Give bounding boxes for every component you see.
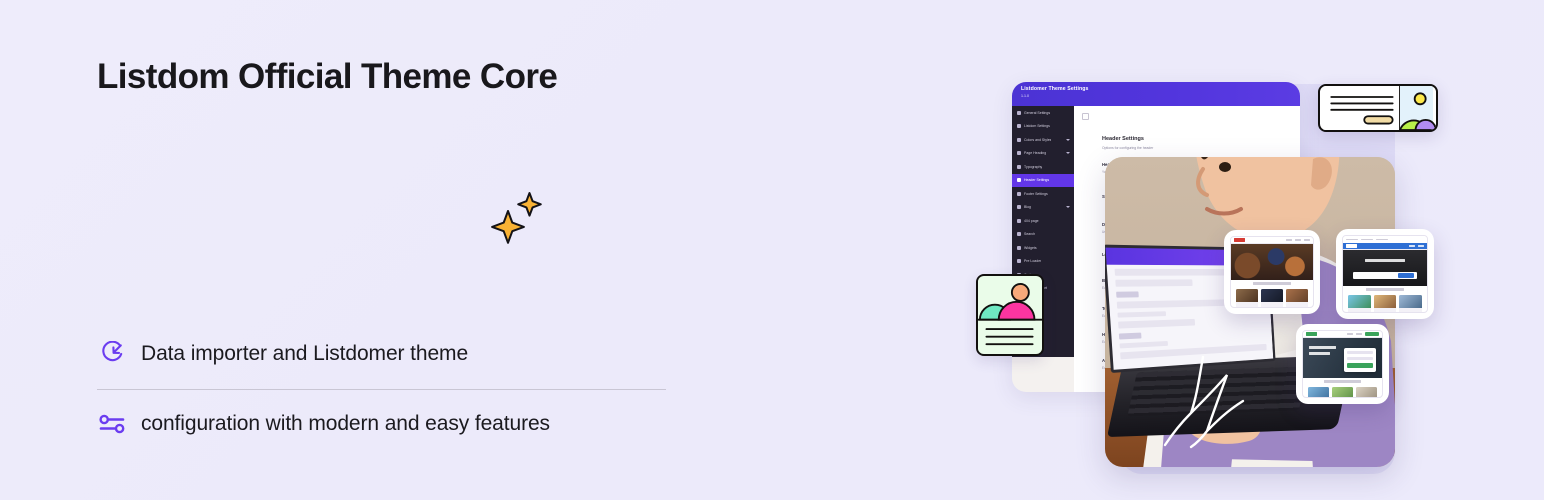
preview-search-popup xyxy=(1344,348,1376,372)
widgets-icon xyxy=(1017,246,1021,250)
feature-label: Data importer and Listdomer theme xyxy=(141,342,468,366)
hero-artwork: Listdomer Theme Settings 1.1.0 General S… xyxy=(960,24,1544,494)
theme-preview-food-directory[interactable] xyxy=(1224,230,1320,314)
main-headline: Listdomer Theme Core Plugin xyxy=(97,114,717,255)
sidebar-item-blog[interactable]: Blog xyxy=(1012,201,1074,215)
content-subheading: Options for configuring the header xyxy=(1102,146,1153,150)
preview-hero-image xyxy=(1231,244,1313,280)
site-logo xyxy=(1234,238,1245,241)
panel-topbar: Listdomer Theme Settings 1.1.0 xyxy=(1012,82,1300,106)
vertical-listing-card-illustration xyxy=(976,274,1044,356)
thumbnail-frame xyxy=(1230,236,1314,308)
header-icon xyxy=(1017,178,1021,182)
preview-card xyxy=(1261,289,1283,308)
sidebar-item-widgets[interactable]: Widgets xyxy=(1012,241,1074,255)
collapse-menu-icon[interactable] xyxy=(1082,113,1089,120)
headline-line-1: Listdomer Theme xyxy=(97,114,717,184)
feature-divider xyxy=(97,389,666,390)
sidebar-item-listdom-settings[interactable]: Listdom Settings xyxy=(1012,120,1074,134)
preview-card xyxy=(1399,295,1422,313)
eyebrow-title: Listdom Official Theme Core xyxy=(97,58,717,97)
preview-card xyxy=(1374,295,1397,313)
preview-card-row xyxy=(1303,383,1382,398)
panel-title: Listdomer Theme Settings xyxy=(1021,86,1089,92)
chevron-down-icon xyxy=(1066,139,1070,141)
search-icon xyxy=(1017,232,1021,236)
headline-block: Listdom Official Theme Core Listdomer Th… xyxy=(97,58,717,254)
content-heading: Header Settings xyxy=(1102,136,1144,142)
preview-card xyxy=(1236,289,1258,308)
import-circle-arrow-icon xyxy=(97,339,127,369)
laptop-screen-chip xyxy=(1116,291,1139,297)
preview-navbar xyxy=(1231,237,1313,244)
pencil-icon xyxy=(1017,205,1021,209)
preview-card xyxy=(1332,387,1353,398)
gear-icon xyxy=(1017,111,1021,115)
feature-list: Data importer and Listdomer theme config… xyxy=(97,330,667,448)
preview-navbar xyxy=(1343,243,1427,250)
sidebar-item-colors-and-styles[interactable]: Colors and Styles xyxy=(1012,133,1074,147)
sidebar-item-header-settings[interactable]: Header Settings xyxy=(1012,174,1074,188)
chevron-down-icon xyxy=(1066,152,1070,154)
sidebar-item-general-settings[interactable]: General Settings xyxy=(1012,106,1074,120)
typography-icon xyxy=(1017,165,1021,169)
sidebar-item-typography[interactable]: Typography xyxy=(1012,160,1074,174)
preview-card-row xyxy=(1231,285,1313,308)
sidebar-item-page-heading[interactable]: Page Heading xyxy=(1012,147,1074,161)
preview-search-button xyxy=(1398,273,1414,278)
preview-card xyxy=(1286,289,1308,308)
page-icon xyxy=(1017,151,1021,155)
nav-link xyxy=(1295,239,1301,241)
nav-link xyxy=(1286,239,1292,241)
horizontal-listing-card-illustration xyxy=(1318,84,1438,132)
theme-preview-real-estate[interactable] xyxy=(1296,324,1389,404)
headline-line-2-wrap: Core Plugin xyxy=(97,184,717,254)
laptop-screen-row xyxy=(1120,341,1169,348)
preview-card-row xyxy=(1343,291,1427,313)
panel-version: 1.1.0 xyxy=(1021,94,1029,98)
laptop-screen-row xyxy=(1115,279,1192,286)
preview-card xyxy=(1356,387,1377,398)
preview-browser-tabs xyxy=(1343,236,1427,243)
theme-preview-business-directory[interactable] xyxy=(1336,229,1434,319)
thumbnail-frame xyxy=(1342,235,1428,313)
preview-navbar xyxy=(1303,331,1382,338)
feature-item-data-importer: Data importer and Listdomer theme xyxy=(97,330,667,378)
nav-link xyxy=(1304,239,1310,241)
feature-label: configuration with modern and easy featu… xyxy=(141,412,550,436)
palette-icon xyxy=(1017,138,1021,142)
grid-icon xyxy=(1017,124,1021,128)
preview-card xyxy=(1308,387,1329,398)
sparkle-doodle-icon xyxy=(1157,353,1267,449)
warning-icon xyxy=(1017,219,1021,223)
laptop-screen-row xyxy=(1118,319,1195,329)
sidebar-item-pre-loader[interactable]: Pre Loader xyxy=(1012,255,1074,269)
listdom-theme-core-banner: Listdom Official Theme Core Listdomer Th… xyxy=(0,0,1544,500)
headline-line-2: Core Plugin xyxy=(97,179,476,258)
preview-hero-image xyxy=(1303,338,1382,378)
sparkles-icon xyxy=(488,187,550,247)
sidebar-item-404-page[interactable]: 404 page xyxy=(1012,214,1074,228)
thumbnail-frame xyxy=(1302,330,1383,398)
preview-search-bar xyxy=(1353,272,1417,279)
sidebar-item-search[interactable]: Search xyxy=(1012,228,1074,242)
laptop-screen-row xyxy=(1117,311,1166,317)
loader-icon xyxy=(1017,259,1021,263)
sidebar-item-footer-settings[interactable]: Footer Settings xyxy=(1012,187,1074,201)
preview-hero-image xyxy=(1343,250,1427,286)
laptop-screen-chip xyxy=(1119,333,1142,340)
preview-card xyxy=(1348,295,1371,313)
footer-icon xyxy=(1017,192,1021,196)
chevron-down-icon xyxy=(1066,206,1070,208)
feature-item-configuration: configuration with modern and easy featu… xyxy=(97,400,667,448)
sliders-settings-icon xyxy=(97,409,127,439)
